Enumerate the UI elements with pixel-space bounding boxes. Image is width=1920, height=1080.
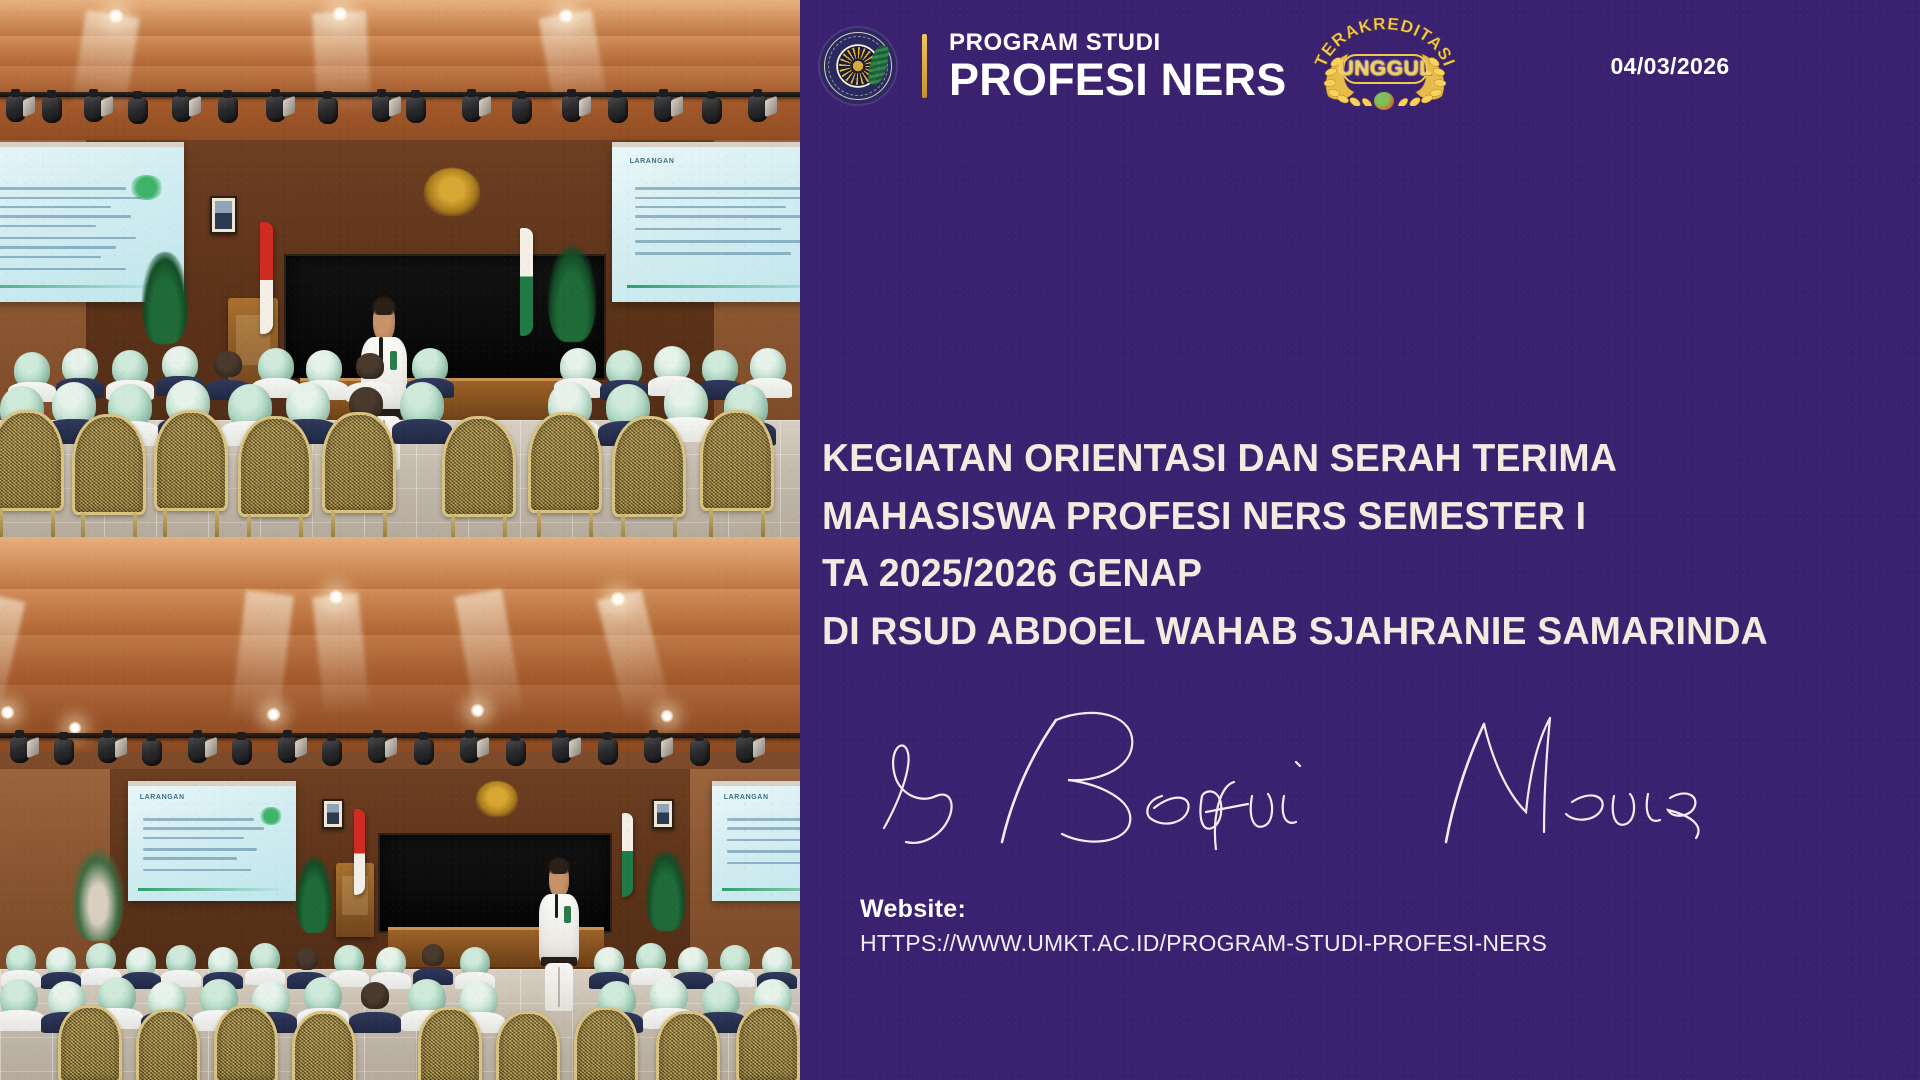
headline-line-2: MAHASISWA PROFESI NERS SEMESTER I	[822, 488, 1849, 546]
auditorium-scene-top: LARANGAN LARANGAN	[0, 0, 800, 537]
program-studi-label: PROGRAM STUDI	[949, 30, 1286, 55]
accreditation-badge: TERAKREDITASI	[1310, 18, 1460, 114]
brand-text-group: PROGRAM STUDI PROFESI NERS	[949, 30, 1286, 102]
accreditation-grade-label: UNGGUL	[1338, 57, 1432, 81]
chair	[418, 1007, 482, 1080]
ceiling-bottom	[0, 537, 800, 752]
wreath-seed-icon	[1374, 92, 1394, 110]
chair	[292, 1011, 356, 1080]
chair	[238, 416, 312, 537]
projector-screen-right-bottom: LARANGAN	[712, 781, 800, 901]
chair	[612, 416, 686, 537]
headline-line-1: KEGIATAN ORIENTASI DAN SERAH TERIMA	[822, 430, 1849, 488]
flag-indonesia-bottom	[354, 809, 365, 895]
slide-logo-left-bottom	[259, 807, 283, 825]
slide-title-right-top: LARANGAN	[630, 158, 675, 165]
event-date: 04/03/2026	[1610, 53, 1729, 80]
brand-header: PROGRAM STUDI PROFESI NERS TERAKREDITASI	[820, 18, 1730, 114]
audience-member	[356, 981, 394, 1033]
headline-line-4: DI RSUD ABDOEL WAHAB SJAHRANIE SAMARINDA	[822, 603, 1849, 661]
headline-line-3: TA 2025/2026 GENAP	[822, 545, 1849, 603]
photo-bottom: LARANGAN LARANGAN	[0, 537, 800, 1080]
wall-portrait-right-bottom	[652, 799, 674, 829]
chair	[528, 412, 602, 537]
program-name-label: PROFESI NERS	[949, 57, 1286, 102]
accreditation-grade-pill: UNGGUL	[1342, 54, 1428, 84]
audience-member	[400, 382, 444, 444]
audience-member	[250, 943, 280, 985]
slide-title-left-bottom: LARANGAN	[140, 794, 185, 801]
website-url[interactable]: HTTPS://WWW.UMKT.AC.ID/PROGRAM-STUDI-PRO…	[860, 930, 1547, 957]
wall-portrait-left-bottom	[322, 799, 344, 829]
chair	[700, 410, 774, 537]
headline-block: KEGIATAN ORIENTASI DAN SERAH TERIMA MAHA…	[822, 430, 1892, 661]
flag-institution-top	[520, 228, 533, 336]
flag-indonesia-top	[260, 222, 273, 334]
chair	[442, 416, 516, 537]
projector-screen-right-top: LARANGAN	[612, 142, 800, 302]
plant-right-top	[548, 246, 596, 342]
flower-arrangement-bottom	[72, 849, 124, 941]
chair	[322, 412, 396, 537]
plant-right-bottom	[646, 851, 686, 931]
projector-screen-left-bottom: LARANGAN	[128, 781, 296, 901]
audience-member	[0, 979, 38, 1031]
website-block: Website: HTTPS://WWW.UMKT.AC.ID/PROGRAM-…	[860, 895, 1547, 957]
chair	[736, 1005, 800, 1080]
chair	[72, 414, 146, 537]
garuda-emblem-bottom	[476, 781, 518, 817]
photo-top: LARANGAN LARANGAN	[0, 0, 800, 537]
signature-block: by Profesi Ners	[824, 700, 1844, 850]
ceiling-top	[0, 0, 800, 150]
slide-title-right-bottom: LARANGAN	[724, 794, 769, 801]
chair	[214, 1005, 278, 1080]
speaker-person-bottom	[538, 861, 580, 1011]
website-label: Website:	[860, 895, 1547, 924]
plant-left-bottom	[296, 857, 332, 933]
gold-divider	[922, 34, 927, 98]
flyer-canvas: LARANGAN LARANGAN	[0, 0, 1920, 1080]
chair	[58, 1005, 122, 1080]
chair	[496, 1011, 560, 1080]
chair	[136, 1009, 200, 1080]
content-panel: PROGRAM STUDI PROFESI NERS TERAKREDITASI	[800, 0, 1920, 1080]
photo-column: LARANGAN LARANGAN	[0, 0, 800, 1080]
chair	[0, 410, 64, 537]
auditorium-scene-bottom: LARANGAN LARANGAN	[0, 537, 800, 1080]
wall-portrait-left-top	[210, 196, 237, 234]
lighting-truss-bottom	[0, 733, 800, 738]
plant-left-top	[142, 252, 188, 344]
chair	[574, 1007, 638, 1080]
university-seal-icon	[820, 28, 896, 104]
flag-institution-bottom	[622, 813, 633, 897]
garuda-emblem-top	[424, 168, 480, 216]
chair	[656, 1011, 720, 1080]
chair	[154, 410, 228, 537]
slide-logo-left-top	[129, 175, 164, 200]
